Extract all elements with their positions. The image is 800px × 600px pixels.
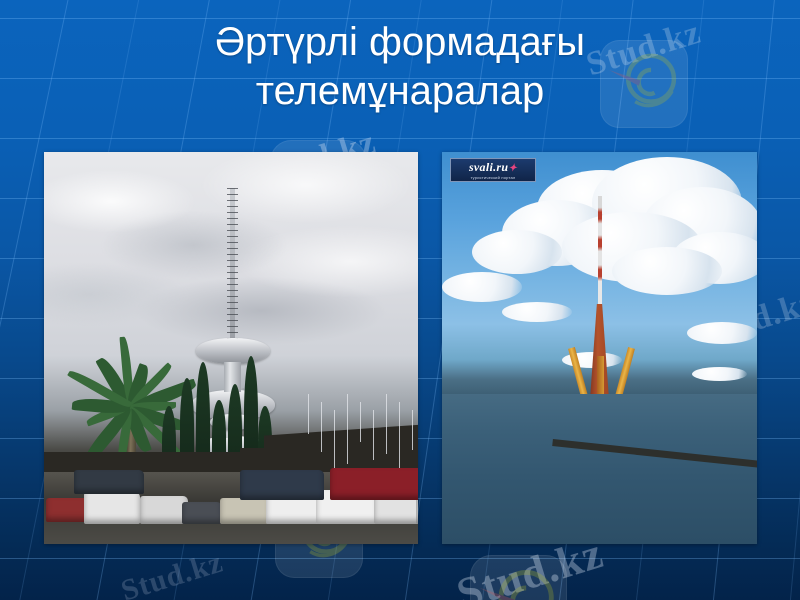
- vehicle: [220, 498, 270, 524]
- grid-line-horizontal: [0, 138, 800, 139]
- svali-ru-logo: svali.ru✦ туристический портал: [450, 158, 536, 182]
- antenna-mast: [334, 410, 335, 470]
- cloud: [472, 230, 562, 274]
- riga-tv-tower-photo: svali.ru✦ туристический портал: [442, 152, 757, 544]
- antenna-mast: [360, 402, 361, 442]
- page-title: Әртүрлі формадағы телемұнаралар: [60, 18, 740, 116]
- mast-rung: [227, 242, 238, 243]
- mast-rung: [227, 314, 238, 315]
- vehicle: [240, 470, 324, 500]
- vehicle: [84, 492, 140, 524]
- antenna-mast: [321, 402, 322, 452]
- mast-rung: [227, 212, 238, 213]
- title-line-1: Әртүрлі формадағы: [60, 18, 740, 67]
- mast-rung: [227, 302, 238, 303]
- antenna-mast: [386, 394, 387, 454]
- mast-rung: [227, 254, 238, 255]
- grid-line-diagonal: [781, 0, 800, 600]
- antenna-mast: [373, 410, 374, 460]
- mast-rung: [227, 188, 238, 189]
- cloud: [692, 367, 747, 381]
- mast-rung: [227, 320, 238, 321]
- mast-rung: [227, 194, 238, 195]
- mast-rung: [227, 224, 238, 225]
- vehicle: [330, 468, 418, 500]
- svali-logo-subtitle: туристический портал: [471, 176, 516, 180]
- mast-rung: [227, 278, 238, 279]
- cloud: [612, 247, 722, 295]
- mast-rung: [227, 308, 238, 309]
- mast-rung: [227, 326, 238, 327]
- mast-rung: [227, 332, 238, 333]
- grid-line-diagonal: [0, 0, 11, 600]
- svali-logo-text: svali.ru: [469, 160, 508, 174]
- river-water: [442, 394, 757, 544]
- ote-tower-thessaloniki-photo: [44, 152, 418, 544]
- mast-rung: [227, 272, 238, 273]
- cloud: [502, 302, 572, 322]
- mast-rung: [227, 290, 238, 291]
- riga-antenna-mast: [598, 196, 602, 311]
- antenna-mast: [399, 402, 400, 472]
- antenna-mast: [412, 410, 413, 450]
- ote-pod-top: [196, 338, 270, 364]
- mast-rung: [227, 206, 238, 207]
- vehicle: [74, 470, 144, 494]
- vehicle: [416, 496, 418, 524]
- cloud: [442, 272, 522, 302]
- mast-rung: [227, 200, 238, 201]
- mast-rung: [227, 260, 238, 261]
- vehicle: [182, 502, 222, 524]
- mast-rung: [227, 230, 238, 231]
- svali-logo-star: ✦: [508, 163, 517, 174]
- presentation-slide: Stud.kzStud.kzStud.kzStud.kzStud.kzStud.…: [0, 0, 800, 600]
- watermark-text: Stud.kz: [117, 545, 227, 600]
- mast-rung: [227, 296, 238, 297]
- mast-rung: [227, 266, 238, 267]
- cloud: [687, 322, 757, 344]
- hummingbird-logo: [470, 555, 567, 600]
- vehicle: [140, 496, 188, 524]
- mast-rung: [227, 218, 238, 219]
- antenna-mast: [347, 394, 348, 464]
- mast-rung: [227, 248, 238, 249]
- mast-rung: [227, 284, 238, 285]
- mast-rung: [227, 236, 238, 237]
- antenna-mast: [308, 394, 309, 434]
- title-line-2: телемұнаралар: [60, 67, 740, 116]
- grid-line-horizontal: [0, 558, 800, 559]
